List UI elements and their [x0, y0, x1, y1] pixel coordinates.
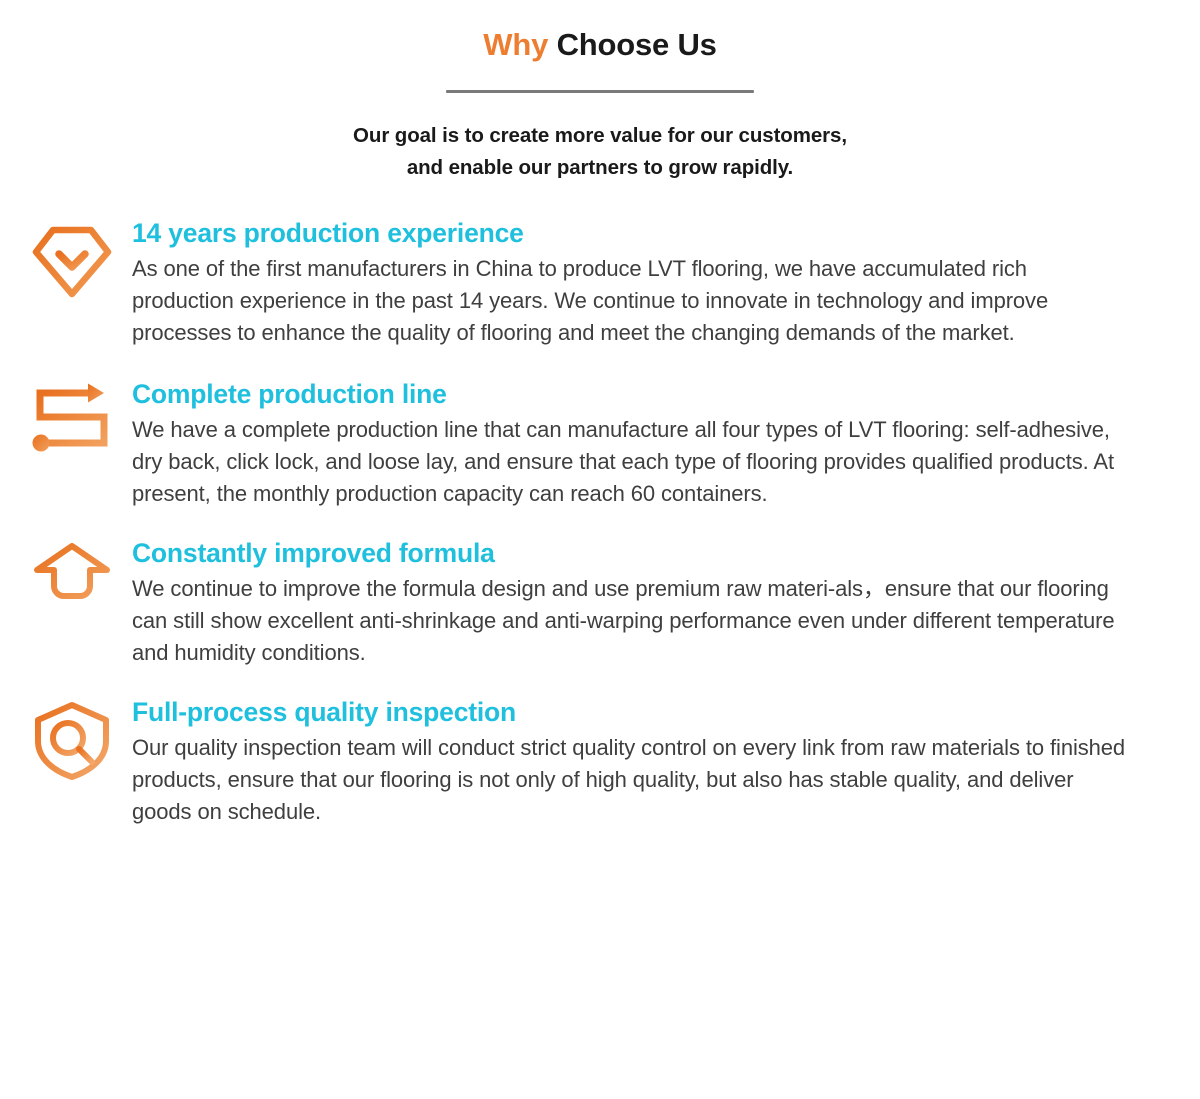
title-divider — [446, 90, 754, 93]
feature-item: Full-process quality inspection Our qual… — [0, 695, 1200, 828]
production-line-flow-icon — [22, 377, 132, 465]
feature-title: Full-process quality inspection — [132, 695, 1140, 729]
feature-body: Constantly improved formula We continue … — [132, 536, 1140, 669]
feature-body: Complete production line We have a compl… — [132, 377, 1140, 510]
upward-arrow-bulb-icon — [22, 536, 132, 624]
feature-item: Complete production line We have a compl… — [0, 377, 1200, 510]
diamond-check-icon — [22, 216, 132, 304]
feature-body: Full-process quality inspection Our qual… — [132, 695, 1140, 828]
feature-item: 14 years production experience As one of… — [0, 216, 1200, 349]
page-header: Why Choose Us Our goal is to create more… — [0, 0, 1200, 184]
feature-title: 14 years production experience — [132, 216, 1140, 250]
page-title-accent: Why — [483, 27, 548, 62]
feature-text: We continue to improve the formula desig… — [132, 573, 1132, 669]
feature-item: Constantly improved formula We continue … — [0, 536, 1200, 669]
feature-text: As one of the first manufacturers in Chi… — [132, 253, 1132, 349]
page-subtitle: Our goal is to create more value for our… — [0, 120, 1200, 184]
shield-magnifier-icon — [22, 695, 132, 783]
feature-body: 14 years production experience As one of… — [132, 216, 1140, 349]
feature-list: 14 years production experience As one of… — [0, 216, 1200, 828]
subtitle-line-2: and enable our partners to grow rapidly. — [0, 152, 1200, 184]
feature-title: Complete production line — [132, 377, 1140, 411]
feature-text: We have a complete production line that … — [132, 414, 1132, 510]
why-choose-us-page: Why Choose Us Our goal is to create more… — [0, 0, 1200, 1099]
feature-text: Our quality inspection team will conduct… — [132, 732, 1132, 828]
feature-title: Constantly improved formula — [132, 536, 1140, 570]
subtitle-line-1: Our goal is to create more value for our… — [0, 120, 1200, 152]
page-title-rest: Choose Us — [557, 27, 717, 62]
page-title: Why Choose Us — [0, 28, 1200, 62]
